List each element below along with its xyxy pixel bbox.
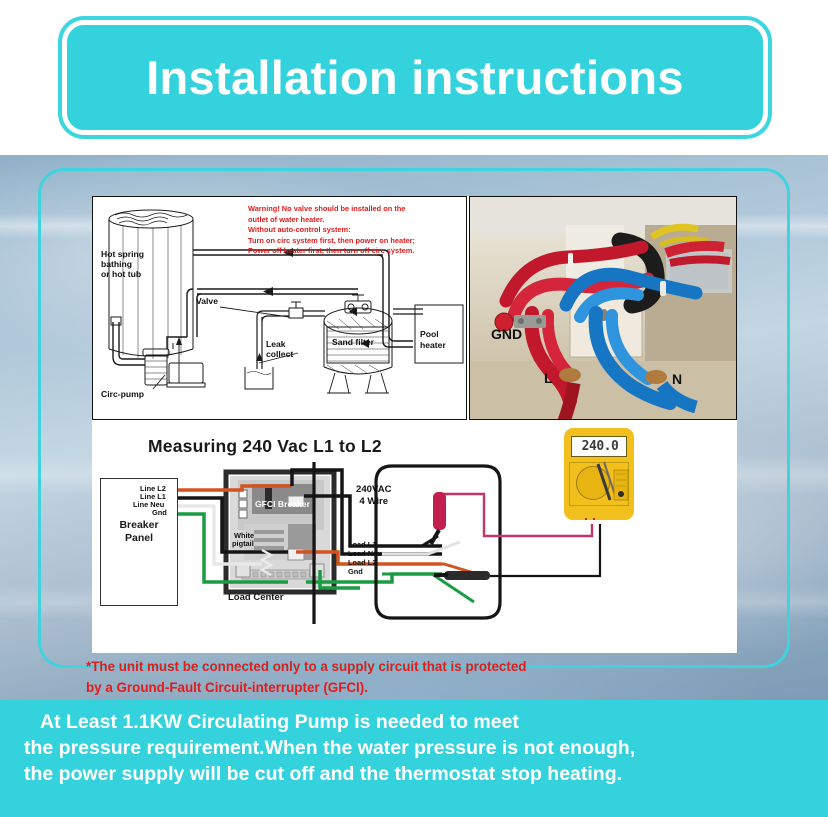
warning-line-5: Power off heater first, then turn off ci… xyxy=(248,246,460,257)
warning-line-4: Turn on circ system first, then power on… xyxy=(248,236,460,247)
label-leak-collect-1: Leak xyxy=(266,339,286,350)
label-hot-tub-3: or hot tub xyxy=(101,269,141,280)
multimeter-detail xyxy=(564,428,634,520)
breaker-panel-line-2: Panel xyxy=(125,532,153,544)
terminal-photo-svg xyxy=(470,197,737,420)
breaker-panel-line-1: Breaker xyxy=(119,519,158,531)
footer-banner: At Least 1.1KW Circulating Pump is neede… xyxy=(0,700,828,817)
label-pool-heater: Pool heater xyxy=(420,329,466,350)
label-load-neu: Load Neu xyxy=(348,549,382,558)
body-background: Warning! No valve should be installed on… xyxy=(0,155,828,700)
label-load-l1: Load L1 xyxy=(348,540,376,549)
terminal-photo: GND L N xyxy=(469,196,737,420)
footer-line-2: the pressure requirement.When the water … xyxy=(0,735,828,761)
wiring-svg xyxy=(92,424,737,653)
label-circ-pump: Circ-pump xyxy=(101,389,144,400)
warning-line-1: Warning! No valve should be installed on… xyxy=(248,204,460,215)
upper-row: Warning! No valve should be installed on… xyxy=(92,196,737,420)
header-zone: Installation instructions xyxy=(0,0,828,155)
label-l: L xyxy=(544,370,553,386)
diagram-panel: Warning! No valve should be installed on… xyxy=(92,196,737,653)
label-hot-tub-1: Hot spring xyxy=(101,249,144,260)
label-240vac: 240VAC 4 Wire xyxy=(356,484,392,508)
warning-line-3: Without auto-control system: xyxy=(248,225,460,236)
warning-line-2: outlet of water heater. xyxy=(248,215,460,226)
label-white-pigtail-2: pigtail xyxy=(232,539,254,548)
gfci-note-line-1: *The unit must be connected only to a su… xyxy=(86,656,746,677)
wiring-diagram: Measuring 240 Vac L1 to L2 xyxy=(92,424,737,653)
label-valve: Valve xyxy=(196,296,218,307)
label-load-l2: Load L2 xyxy=(348,558,376,567)
footer-line-3: the power supply will be cut off and the… xyxy=(0,761,828,787)
page-title: Installation instructions xyxy=(146,50,684,105)
label-240vac-line1: 240VAC xyxy=(356,484,392,495)
footer-line-1: At Least 1.1KW Circulating Pump is neede… xyxy=(0,709,828,735)
label-line-gnd: Gnd xyxy=(152,508,167,517)
label-240vac-line2: 4 Wire xyxy=(359,496,388,507)
warning-block: Warning! No valve should be installed on… xyxy=(248,204,460,257)
label-gfci-breaker: GFCI Breaker xyxy=(255,499,310,509)
label-sand-filter: Sand filter xyxy=(332,337,374,348)
label-gnd: GND xyxy=(491,326,522,342)
breaker-panel-label: Breaker Panel xyxy=(104,519,174,545)
label-n: N xyxy=(672,371,682,387)
label-load-center: Load Center xyxy=(228,592,283,603)
label-load-gnd: Gnd xyxy=(348,567,363,576)
multimeter: 240.0 xyxy=(564,428,634,520)
title-banner: Installation instructions xyxy=(62,20,768,135)
gfci-note-line-2: by a Ground-Fault Circuit-interrupter (G… xyxy=(86,677,746,698)
installation-instructions-page: Installation instructions xyxy=(0,0,828,817)
gfci-note: *The unit must be connected only to a su… xyxy=(86,656,746,698)
label-leak-collect-2: collect xyxy=(266,349,293,360)
label-hot-tub-2: bathing xyxy=(101,259,132,270)
plumbing-schematic: Warning! No valve should be installed on… xyxy=(92,196,467,420)
